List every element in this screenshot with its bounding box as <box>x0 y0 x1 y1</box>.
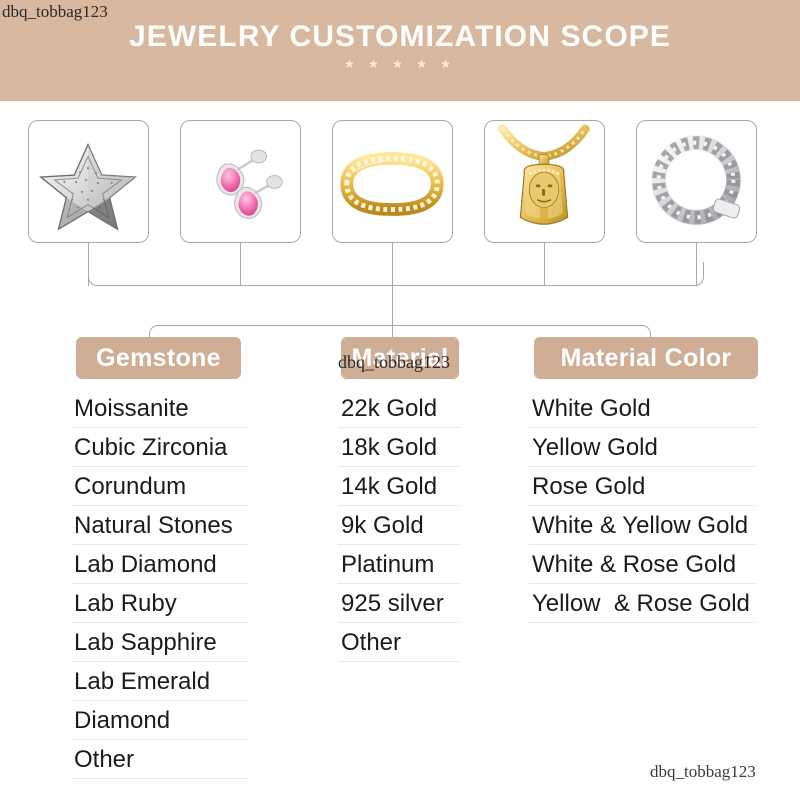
category-list-material-color: White GoldYellow GoldRose GoldWhite & Ye… <box>529 389 756 623</box>
list-item[interactable]: Diamond <box>71 701 248 740</box>
connector-stub-2 <box>240 243 241 286</box>
infographic-page: JEWELRY CUSTOMIZATION SCOPE ★ ★ ★ ★ ★ db… <box>0 0 800 800</box>
connector-stub-4 <box>544 243 545 286</box>
category-header-gemstone[interactable]: Gemstone <box>76 337 241 379</box>
list-item[interactable]: Cubic Zirconia <box>71 428 248 467</box>
list-item[interactable]: White & Rose Gold <box>529 545 756 584</box>
product-card-jesus-piece-pendant[interactable] <box>484 120 605 243</box>
product-card-cuban-link-chain[interactable] <box>636 120 757 243</box>
list-item[interactable]: Yellow Gold <box>529 428 756 467</box>
list-item[interactable]: Yellow & Rose Gold <box>529 584 756 623</box>
connector-corner-right <box>688 262 704 286</box>
list-item[interactable]: Rose Gold <box>529 467 756 506</box>
list-item[interactable]: 14k Gold <box>338 467 460 506</box>
category-header-material[interactable]: Material <box>341 337 459 379</box>
product-card-pink-stud-earrings[interactable] <box>180 120 301 243</box>
pink-stud-earrings-icon <box>181 121 300 242</box>
list-item[interactable]: 18k Gold <box>338 428 460 467</box>
category-header-material-label: Material <box>352 344 449 373</box>
watermark-bottom-right: dbq_tobbag123 <box>650 762 756 782</box>
star-pendant-icon <box>29 121 148 242</box>
list-item[interactable]: Lab Ruby <box>71 584 248 623</box>
list-item[interactable]: Moissanite <box>71 389 248 428</box>
product-card-tennis-bracelet[interactable] <box>332 120 453 243</box>
list-item[interactable]: Lab Sapphire <box>71 623 248 662</box>
tennis-bracelet-icon <box>333 121 452 242</box>
connector-corner-left <box>88 262 104 286</box>
list-item[interactable]: Platinum <box>338 545 460 584</box>
cuban-link-chain-icon <box>637 121 756 242</box>
connector-stub-3 <box>392 243 393 286</box>
jesus-piece-pendant-icon <box>485 121 604 242</box>
category-list-material: 22k Gold18k Gold14k Gold9k GoldPlatinum9… <box>338 389 460 662</box>
connector-bar-bottom <box>157 325 643 326</box>
list-item[interactable]: 22k Gold <box>338 389 460 428</box>
connector-bar-top <box>96 285 696 286</box>
list-item[interactable]: 9k Gold <box>338 506 460 545</box>
list-item[interactable]: White Gold <box>529 389 756 428</box>
list-item[interactable]: White & Yellow Gold <box>529 506 756 545</box>
list-item[interactable]: 925 silver <box>338 584 460 623</box>
list-item[interactable]: Natural Stones <box>71 506 248 545</box>
category-header-material-color[interactable]: Material Color <box>534 337 758 379</box>
product-card-star-pendant[interactable] <box>28 120 149 243</box>
list-item[interactable]: Corundum <box>71 467 248 506</box>
list-item[interactable]: Other <box>338 623 460 662</box>
star-rating-decoration: ★ ★ ★ ★ ★ <box>0 57 800 71</box>
header-band: JEWELRY CUSTOMIZATION SCOPE ★ ★ ★ ★ ★ <box>0 0 800 101</box>
category-header-material-color-label: Material Color <box>561 344 732 373</box>
list-item[interactable]: Other <box>71 740 248 779</box>
category-header-gemstone-label: Gemstone <box>96 344 221 373</box>
list-item[interactable]: Lab Emerald <box>71 662 248 701</box>
category-list-gemstone: MoissaniteCubic ZirconiaCorundumNatural … <box>71 389 248 779</box>
page-title: JEWELRY CUSTOMIZATION SCOPE <box>0 20 800 54</box>
list-item[interactable]: Lab Diamond <box>71 545 248 584</box>
